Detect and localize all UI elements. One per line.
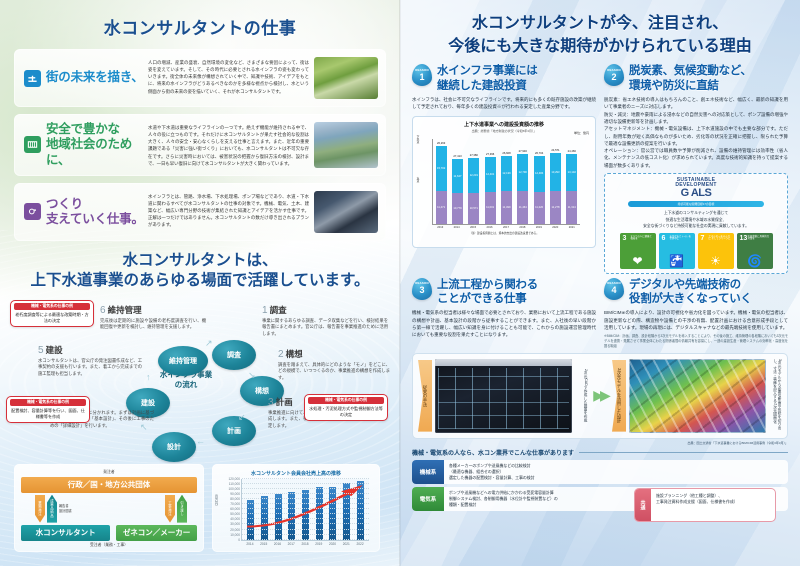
callout-maintenance: 機械・電気系の仕事の例 老朽度調査等による最適な改築時期・方法の決定 <box>10 300 94 327</box>
bim-legacy-tag: 従来の手法 <box>418 360 432 432</box>
chart-y-tick: 50,000 <box>230 512 240 516</box>
faucet-icon <box>24 70 41 87</box>
left-page-title: 水コンサルタントの仕事 <box>0 0 400 39</box>
right-title-line-1: 水コンサルタントが今、注目され、 <box>400 12 800 35</box>
dam-icon <box>24 136 41 153</box>
left-page: 水コンサルタントの仕事 街の未来を描き、 人口の増減、産業の盛衰、自然環境の変化… <box>0 0 400 566</box>
stacked-bar-total: 27,380 <box>470 154 478 157</box>
stacked-x-tick: 2015 <box>468 226 479 229</box>
chart-y-tick: 100,000 <box>228 487 240 491</box>
chart-gridline: 90,000 <box>242 493 369 494</box>
reason-3-body: 機械・電気系の担当者は様々な場面で必要とされており、業務において上流工程である施… <box>412 309 596 338</box>
stacked-segment-water: 11,278 <box>550 191 561 223</box>
cycle-node-maintain[interactable]: 維持管理 <box>158 346 208 376</box>
left-page-subtitle: 水コンサルタントは、 上下水道事業のあらゆる場面で活躍しています。 <box>0 251 400 292</box>
stacked-bar-total: 27,413 <box>453 155 461 158</box>
job-card-body: 水インフラとは、管路、浄水場、下水処理場、ポンプ場などであり、水道・下水道に関わ… <box>148 191 314 233</box>
step-text: 完成後は定期的に施設や設備の老朽度調査を行い、機能回復や更新を検討し、維持管理を… <box>100 318 206 331</box>
stacked-segment-sewer: 12,484 <box>534 156 545 192</box>
stacked-segment-water: 11,499 <box>501 191 512 224</box>
sdg-icon-title: エネルギーをみんなに そしてクリーンに <box>709 236 732 241</box>
reason-badge-4: REASON 4 <box>604 278 624 300</box>
step-number: 5 <box>38 345 44 356</box>
chart-gridline: 30,000 <box>242 523 369 524</box>
jobs-tag-common: 共通 <box>635 489 651 521</box>
bim-right-caption: 3次元モデルから必要な断面や形状を切り出し、寸法・装飾を記入する 2次元図面化 <box>769 359 782 433</box>
chart-y-tick: 30,000 <box>230 522 240 526</box>
stacked-bar-column: 26,26315,70211,471 <box>436 146 447 224</box>
step-name: 構想 <box>286 349 303 359</box>
right-page: 水コンサルタントが今、注目され、 今後にも大きな期待がかけられている理由 REA… <box>400 0 800 566</box>
step-heading: 2構想 <box>278 348 390 360</box>
stacked-segment-sewer: 12,139 <box>501 156 512 191</box>
chart-x-tick: 2021 <box>343 542 350 546</box>
job-card: 街の未来を描き、 人口の増減、産業の盛衰、自然環境の変化など、さまざまな要因によ… <box>14 49 386 107</box>
badge-number: 4 <box>611 286 616 295</box>
stacked-chart-unit: 単位：億円 <box>574 131 589 135</box>
reason-badge-1: REASON 1 <box>412 64 432 86</box>
jobs-line: 工事発注資料作成支援（図面、仕様書を作成） <box>656 499 770 505</box>
reason-2-body: 脱炭素：省エネ技術の導入はもちろんのこと、創エネ技術など、幅広く、最新の知識を用… <box>604 96 788 169</box>
chart-gridline: 70,000 <box>242 503 369 504</box>
chart-x-tick: 2014 <box>246 542 253 546</box>
chart-bar <box>343 483 350 539</box>
chart-gridline: 0 <box>242 539 369 540</box>
sdg-icon-glyph: ☀ <box>698 255 734 267</box>
reason-1-body: 水インフラは、社会に不可欠なライフラインです。将来的にも多くの既存施設の改築が継… <box>412 96 596 111</box>
reason-column-2: REASON 2 脱炭素、気候変動など、環境や防災に直結 脱炭素：省エネ技術の導… <box>604 64 788 273</box>
page-gutter <box>399 0 401 566</box>
chart-gridline: 110,000 <box>242 483 369 484</box>
stacked-x-tick: 2016 <box>484 226 495 229</box>
badge-number: 1 <box>419 73 424 82</box>
reason-column-3: REASON 3 上流工程から関わることができる仕事 機械・電気系の担当者は様々… <box>412 278 596 349</box>
sales-trend-chart-panel: 水コンサルタント会員会社売上高の推移 （百万円） 010,00020,00030… <box>212 464 380 552</box>
reason-1-title: 水インフラ事業には継続した建設投資 <box>437 64 537 93</box>
stacked-plot-area: 26,26315,70211,47127,41311,64710,77927,3… <box>432 139 580 225</box>
stacked-series-label-sewer: 下水道 <box>415 135 419 143</box>
step-text: 水コンサルタントは、官公庁の発注図書作成など、工事契約の支援も行います。また、着… <box>38 358 142 378</box>
step-name: 計画 <box>276 397 293 407</box>
right-title-line-2: 今後にも大きな期待がかけられている理由 <box>400 35 800 58</box>
step-text: 調査を踏まえて、具体的にどのような「モノ」をどこに、どの規模で、いつつくるのか、… <box>278 362 390 382</box>
job-card: 安全で豊かな地域社会のために、 水道や下水道は重要なライフラインの一つです。絶え… <box>14 114 386 176</box>
reason-badge-2: REASON 2 <box>604 64 624 86</box>
reason-4-body: BIM/CIM※の導入により、設計の可視化や省力化を図っています。機械・電気の担… <box>604 309 788 331</box>
relation-client-box: 行政／国・地方公共団体 <box>21 477 197 493</box>
step-construct: 5建設 水コンサルタントは、官公庁の発注図書作成など、工事契約の支援も行います。… <box>38 344 142 378</box>
step-number: 6 <box>100 305 106 316</box>
jobs-body-common: 施設プランニング（他工種と調整）、 工事発注資料作成支援（図面、仕様書を作成） <box>651 489 775 521</box>
relation-mid-note: 報告書 設計図書 <box>59 504 72 514</box>
sdg-icon-13: 13気候変動に具体的な対策を🌀 <box>737 233 773 269</box>
step-text: 事業に関するあらゆる調査、データ収集などを行い、検討結果を報告書にまとめます。官… <box>262 318 388 338</box>
chart-x-tick: 2016 <box>274 542 281 546</box>
jobs-heading-text: 機械・電気系の人なら、水コン業界でこんな仕事があります <box>412 448 574 457</box>
sdg-icon-title: 安全な水とトイレを世界中に <box>670 236 693 241</box>
cycle-arrow-icon: ↙ <box>238 412 246 423</box>
stacked-bar-column: 26,70412,48411,220 <box>534 156 545 224</box>
construction-investment-chart: 上下水道事業への建設投資額の推移 出典：総務省「地方財政の状況（令和5年3月）」… <box>412 116 596 248</box>
chart-gridline: 10,000 <box>242 534 369 535</box>
stacked-bar-column: 26,60812,13911,499 <box>501 156 512 224</box>
sdg-icon-7: 7エネルギーをみんなに そしてクリーンに☀ <box>698 233 734 269</box>
relation-arrow-label: 工事発注 <box>168 501 173 516</box>
bim-source-note: 出典：国土交通省「下水道事業におけるBIM/CIM活用事例（令和3年3月）」 <box>400 441 788 445</box>
stacked-bar-total: 24,466 <box>568 150 576 153</box>
chart-y-tick: 0 <box>238 538 240 542</box>
chart-y-tick: 110,000 <box>229 482 240 486</box>
stacked-bar-total: 27,396 <box>486 153 494 156</box>
cycle-node-design[interactable]: 設計 <box>152 432 196 462</box>
chart-x-axis-labels: 201420152016201720182019202020212022 <box>241 541 369 546</box>
job-photo-city <box>314 122 378 168</box>
chart-x-tick: 2019 <box>315 542 322 546</box>
stacked-segment-water: 11,001 <box>485 192 496 224</box>
job-card-head: 街の未来を描き、 <box>20 57 148 99</box>
reasons-grid-lower: REASON 3 上流工程から関わることができる仕事 機械・電気系の担当者は様々… <box>400 274 800 349</box>
stacked-segment-water: 11,464 <box>517 191 528 224</box>
badge-number: 3 <box>419 286 424 295</box>
stacked-bar-total: 27,946 <box>519 150 527 153</box>
job-photo-work <box>314 191 378 233</box>
jobs-heading: 機械・電気系の人なら、水コン業界でこんな仕事があります <box>412 448 788 457</box>
reason-4-title: デジタルや先端技術の役割が大きくなっていく <box>629 278 752 307</box>
cycle-arrow-icon: ↗ <box>205 338 213 349</box>
callout-heading: 機械・電気系の仕事の例 <box>10 399 86 406</box>
sdg-icons: 3すべての人に健康と福祉を❤6安全な水とトイレを世界中に🚰7エネルギーをみんなに… <box>610 233 782 269</box>
chart-y-axis-label: （百万円） <box>214 492 219 508</box>
brochure-spread: 水コンサルタントの仕事 街の未来を描き、 人口の増減、産業の盛衰、自然環境の変化… <box>0 0 800 566</box>
reason-1-head: REASON 1 水インフラ事業には継続した建設投資 <box>412 64 596 93</box>
sdg-logo: SUSTAINABLE DEVELOPMENT G ALS 持続可能な開発目標1… <box>610 178 782 208</box>
job-card-body: 水道や下水道は重要なライフラインの一つです。絶えず機能が維持される中で、人々の役… <box>148 122 314 168</box>
step-survey: 1調査 事業に関するあらゆる調査、データ収集などを行い、検討結果を報告書にまとめ… <box>262 304 388 338</box>
stacked-chart-title: 上下水道事業への建設投資額の推移 <box>418 121 590 128</box>
stacked-segment-sewer: 13,132 <box>566 154 577 192</box>
jobs-common-box: 共通 施設プランニング（他工種と調整）、 工事発注資料作成支援（図面、仕様書を作… <box>634 488 776 522</box>
stacked-bar-column: 27,94612,79011,464 <box>517 154 528 224</box>
sdg-bar: 持続可能な開発目標17の目標 <box>628 201 764 207</box>
sdg-icon-title: 気候変動に具体的な対策を <box>748 236 771 241</box>
step-name: 維持管理 <box>108 305 142 315</box>
stacked-x-tick: 2019 <box>533 226 544 229</box>
stacked-segment-sewer: 12,219 <box>468 158 479 193</box>
stacked-x-tick: 2013 <box>435 226 446 229</box>
step-heading: 6維持管理 <box>100 304 206 316</box>
chart-gridline: 60,000 <box>242 508 369 509</box>
sdg-card: SUSTAINABLE DEVELOPMENT G ALS 持続可能な開発目標1… <box>604 173 788 274</box>
heading-rule <box>579 452 788 453</box>
stacked-segment-sewer: 13,293 <box>550 153 561 191</box>
chart-gridline: 40,000 <box>242 518 369 519</box>
stacked-bar-column: 27,39612,40111,001 <box>485 157 496 224</box>
stacked-x-labels: 201320142015201620172018201920202021 <box>432 226 580 229</box>
bim-left-caption: 2次元CADで作成した図面を作成 <box>575 369 588 422</box>
chart-x-tick: 2017 <box>288 542 295 546</box>
subtitle-line-2: 上下水道事業のあらゆる場面で活躍しています。 <box>0 271 400 291</box>
stacked-bar-total: 26,704 <box>535 152 543 155</box>
job-cards: 街の未来を描き、 人口の増減、産業の盛衰、自然環境の変化など、さまざまな要因によ… <box>14 49 386 241</box>
step-number: 3 <box>268 397 274 408</box>
relation-bottom-caption: 受注者（業務・工事） <box>21 543 197 548</box>
jobs-body-mechanical: 各種メーカーのポンプや送風機などの比較検討 （最適な機器、組合せの選択） 選定し… <box>444 460 788 484</box>
jobs-tag-electrical: 電気系 <box>412 487 444 511</box>
stacked-segment-sewer: 12,790 <box>517 154 528 191</box>
chart-y-tick: 10,000 <box>230 533 240 537</box>
bim-2d-cad-screenshot <box>435 359 572 433</box>
reason-3-title: 上流工程から関わることができる仕事 <box>437 278 538 307</box>
callout-text: 配置検討、容量計算等を行い、図面、仕様書等を作成 <box>10 408 86 420</box>
step-name: 建設 <box>46 345 63 355</box>
step-concept: 2構想 調査を踏まえて、具体的にどのような「モノ」をどこに、どの規模で、いつつく… <box>278 348 390 382</box>
sdg-icon-glyph: ❤ <box>620 255 656 267</box>
reason-4-head: REASON 4 デジタルや先端技術の役割が大きくなっていく <box>604 278 788 307</box>
step-name: 調査 <box>270 305 287 315</box>
chart-y-tick: 40,000 <box>230 517 240 521</box>
jobs-line: 選定した機器の配置検討・容量計算、工事の検討 <box>449 475 783 481</box>
chart-x-tick: 2015 <box>260 542 267 546</box>
job-card-label: つくり支えていく仕事。 <box>46 197 144 228</box>
stacked-chart-footnote: （注）建設投資額とは、資本的支出の建設改良費である。 <box>418 231 590 235</box>
stacked-segment-sewer: 12,401 <box>485 157 496 193</box>
stacked-bar-total: 26,263 <box>437 142 445 145</box>
business-relationship-panel: 発注者 行政／国・地方公共団体 業務発注 成果品納品 報告書 設計図書 <box>14 464 204 552</box>
cycle-arrow-icon: ↘ <box>248 370 256 381</box>
stacked-segment-water: 11,314 <box>566 191 577 223</box>
stacked-segment-water: 11,471 <box>436 191 447 224</box>
chart-gridline: 100,000 <box>242 488 369 489</box>
reasons-grid: REASON 1 水インフラ事業には継続した建設投資 水インフラは、社会に不可欠… <box>400 58 800 273</box>
stacked-x-tick: 2018 <box>517 226 528 229</box>
step-number: 1 <box>262 305 268 316</box>
step-heading: 5建設 <box>38 344 142 356</box>
sdg-text: 上下水道のコンサルティングを通じて 快適な生活環境や水域の水質保全、 安全な街づ… <box>610 210 782 228</box>
workflow-cycle-diagram: 水インフラ事業の流れ 調査 構想 計画 設計 建設 維持管理 ↗ ↘ ↙ ← ↖… <box>0 296 400 464</box>
callout-design: 機械・電気系の仕事の例 配置検討、容量計算等を行い、図面、仕様書等を作成 <box>6 396 90 423</box>
stacked-segment-sewer: 15,702 <box>436 146 447 191</box>
reason-column-4: REASON 4 デジタルや先端技術の役割が大きくなっていく BIM/CIM※の… <box>604 278 788 349</box>
stacked-bar-column: 27,41311,64710,779 <box>452 159 463 223</box>
reason-3-head: REASON 3 上流工程から関わることができる仕事 <box>412 278 596 307</box>
job-card-label: 街の未来を描き、 <box>46 70 144 85</box>
step-maintain: 6維持管理 完成後は定期的に施設や設備の老朽度調査を行い、機能回復や更新を検討し… <box>100 304 206 331</box>
sdg-icon-title: すべての人に健康と福祉を <box>631 236 654 241</box>
job-card-head: つくり支えていく仕事。 <box>20 191 148 233</box>
chart-gridline: 120,000 <box>242 478 369 479</box>
chart-y-tick: 120,000 <box>228 477 240 481</box>
chart-gridline: 80,000 <box>242 498 369 499</box>
jobs-section: 機械・電気系の人なら、水コン業界でこんな仕事があります 機械系 各種メーカーのポ… <box>412 448 788 511</box>
callout-text: 老朽度調査等による最適な改築時期・方法の決定 <box>14 312 90 324</box>
reason-4-note: ※BIM/CIM：計画、調査、設計段階から3次元モデルを導入することにより、その… <box>604 334 788 348</box>
stacked-bar-total: 24,571 <box>551 149 559 152</box>
chart-y-tick: 20,000 <box>230 528 240 532</box>
bim-3d-model-screenshot <box>629 359 766 433</box>
reason-2-title: 脱炭素、気候変動など、環境や防災に直結 <box>629 64 752 93</box>
pump-icon <box>24 203 41 220</box>
step-number: 2 <box>278 349 284 360</box>
subtitle-line-1: 水コンサルタントは、 <box>0 251 400 271</box>
stacked-x-tick: 2017 <box>500 226 511 229</box>
sdg-icon-6: 6安全な水とトイレを世界中に🚰 <box>659 233 695 269</box>
job-card-label: 安全で豊かな地域社会のために、 <box>46 122 148 168</box>
stacked-x-tick: 2021 <box>566 226 577 229</box>
stacked-bar-column: 24,57113,29311,278 <box>550 153 561 223</box>
reason-2-head: REASON 2 脱炭素、気候変動など、環境や防災に直結 <box>604 64 788 93</box>
cycle-arrow-icon: ↑ <box>146 372 151 382</box>
step-heading: 1調査 <box>262 304 388 316</box>
cycle-node-plan[interactable]: 計画 <box>212 416 256 446</box>
right-page-title: 水コンサルタントが今、注目され、 今後にも大きな期待がかけられている理由 <box>400 0 800 58</box>
stacked-x-tick: 2020 <box>550 226 561 229</box>
callout-plan: 機械・電気系の仕事の例 水処理・汚泥処理方式や監視制御方法等の決定 <box>304 394 388 421</box>
stacked-bar-column: 24,46613,13211,314 <box>566 154 577 224</box>
callout-heading: 機械・電気系の仕事の例 <box>14 303 90 310</box>
chart-x-tick: 2020 <box>329 542 336 546</box>
relation-consultant-box: 水コンサルタント <box>21 525 110 541</box>
relation-arrow-label: 成果品納品 <box>50 499 55 518</box>
bim-cim-comparison-panel: 従来の手法 2次元CADで作成した図面を作成 ▶▶ 3次元モデルを活用した設計 … <box>412 353 788 439</box>
chart-y-tick: 80,000 <box>230 497 240 501</box>
relation-arrow-label: 引き渡し <box>180 501 185 516</box>
jobs-row-mechanical: 機械系 各種メーカーのポンプや送風機などの比較検討 （最適な機器、組合せの選択）… <box>412 460 788 484</box>
job-photo-child <box>314 57 378 99</box>
chart-plot-area: 010,00020,00030,00040,00050,00060,00070,… <box>241 479 369 541</box>
chart-y-tick: 60,000 <box>230 507 240 511</box>
stacked-bar-total: 26,608 <box>502 152 510 155</box>
stacked-segment-water: 10,571 <box>468 193 479 223</box>
job-card-body: 人口の増減、産業の盛衰、自然環境の変化など、さまざまな要因によって、街は姿を変え… <box>148 57 314 99</box>
stacked-series-label-water: 水道 <box>415 177 419 182</box>
sdg-icon-3: 3すべての人に健康と福祉を❤ <box>620 233 656 269</box>
stacked-bar-column: 27,38012,21910,571 <box>468 158 479 223</box>
job-card: つくり支えていく仕事。 水インフラとは、管路、浄水場、下水処理場、ポンプ場などで… <box>14 183 386 241</box>
chart-y-tick: 70,000 <box>230 502 240 506</box>
job-card-head: 安全で豊かな地域社会のために、 <box>20 122 148 168</box>
left-bottom-panels: 発注者 行政／国・地方公共団体 業務発注 成果品納品 報告書 設計図書 <box>14 464 386 552</box>
sdg-logo-big: G ALS <box>610 188 782 199</box>
relation-top-caption: 発注者 <box>21 470 197 475</box>
chart-title: 水コンサルタント会員会社売上高の推移 <box>219 470 373 477</box>
chart-y-tick: 90,000 <box>230 492 240 496</box>
relation-arrow-label: 業務発注 <box>38 501 43 516</box>
chart-x-tick: 2018 <box>301 542 308 546</box>
cycle-node-survey[interactable]: 調査 <box>212 340 256 370</box>
chart-bar <box>357 481 364 540</box>
badge-number: 2 <box>611 73 616 82</box>
stacked-chart-source: 出典：総務省「地方財政の状況（令和5年3月）」 <box>418 129 590 133</box>
reason-badge-3: REASON 3 <box>412 278 432 300</box>
stacked-bars: 26,26315,70211,47127,41311,64710,77927,3… <box>433 139 580 224</box>
sdg-icon-glyph: 🚰 <box>659 255 695 267</box>
chart-bar <box>288 492 295 540</box>
stacked-segment-sewer: 11,647 <box>452 159 463 192</box>
chart-gridline: 50,000 <box>242 513 369 514</box>
chart-x-tick: 2022 <box>357 542 364 546</box>
stacked-x-tick: 2014 <box>451 226 462 229</box>
jobs-tag-mechanical: 機械系 <box>412 460 444 484</box>
stacked-segment-water: 10,779 <box>452 193 463 224</box>
sdg-icon-glyph: 🌀 <box>737 255 773 267</box>
callout-text: 水処理・汚泥処理方式や監視制御方法等の決定 <box>308 406 384 418</box>
callout-heading: 機械・電気系の仕事の例 <box>308 397 384 404</box>
arrow-right-icon: ▶▶ <box>591 387 609 404</box>
reason-column-1: REASON 1 水インフラ事業には継続した建設投資 水インフラは、社会に不可欠… <box>412 64 596 273</box>
bim-modern-tag: 3次元モデルを活用した設計 <box>612 360 626 432</box>
relation-contractor-box: ゼネコン／メーカー <box>116 525 197 541</box>
stacked-segment-water: 11,220 <box>534 192 545 224</box>
chart-gridline: 20,000 <box>242 529 369 530</box>
cycle-arrow-icon: ← <box>196 436 205 446</box>
